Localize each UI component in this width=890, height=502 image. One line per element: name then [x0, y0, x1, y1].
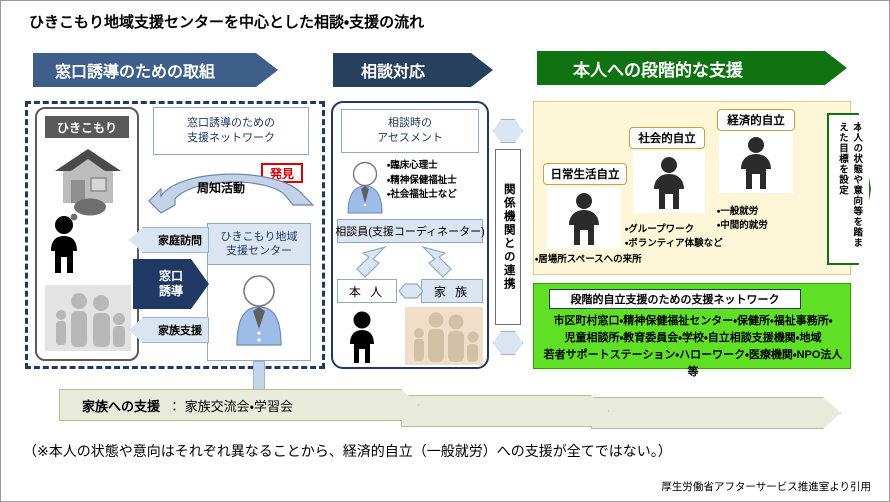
green-body-line-1: 児童相談所・教育委員会・学校・自立相談支援機関・地域: [539, 330, 847, 347]
staff-qualification-list: ・臨床心理士 ・精神保健福祉士 ・社会福祉士など: [387, 159, 483, 213]
staff-item-1: ・精神保健福祉士: [387, 174, 483, 189]
link-organizations-label: 関係機関との連携: [502, 183, 514, 291]
counselor-box: 相談員(支援コーディネーター): [337, 219, 483, 243]
green-body-line-0: 市区町村窓口・精神保健福祉センター・保健所・福祉事務所・: [539, 313, 847, 330]
green-network-body: 市区町村窓口・精神保健福祉センター・保健所・福祉事務所・ 児童相談所・教育委員会…: [539, 313, 847, 367]
bottom-band-1: 家族への支援 ： 家族交流会・学習会: [59, 389, 419, 421]
stage-notes-daily-life: ・居場所スペースへの来所: [535, 253, 665, 267]
center-line-1: ひきこもり地域: [221, 230, 298, 244]
kazoku-box: 家 族: [421, 279, 483, 303]
family-photo-icon: [45, 285, 131, 351]
family-support-band-label: 家族への支援: [82, 396, 160, 415]
counselor-person-icon: [345, 159, 385, 215]
diagram-root: ひきこもり地域支援センターを中心とした相談・支援の流れ 窓口誘導のための取組 相…: [0, 0, 890, 502]
person-black-icon: [47, 215, 81, 275]
stage-2-note-0: ・一般就労: [717, 205, 807, 219]
banner-1-label: 窓口誘導のための取組: [55, 58, 215, 82]
stage-photo-economic: [719, 131, 793, 193]
family-photo-icon: [405, 307, 483, 365]
awareness-label: 周知活動: [181, 179, 261, 197]
stage-1-note-1: ・ボランティア体験など: [625, 237, 745, 251]
source-credit: 厚生労働省アフターサービス推進室より引用: [601, 479, 871, 495]
banner-2-label: 相談対応: [361, 58, 425, 82]
page-title: ひきこもり地域支援センターを中心とした相談・支援の流れ: [29, 11, 729, 35]
bottom-band-2: [401, 395, 609, 427]
stage-photo-social: [633, 151, 705, 213]
link-arrow-top-icon: [493, 119, 523, 143]
family-support-band-detail: ： 家族交流会・学習会: [168, 396, 293, 415]
assessment-line-1: 相談時の: [388, 116, 432, 131]
footnote-text: （※本人の状態や意向はそれぞれ異なることから、経済的自立（一般就労）への支援が全…: [23, 441, 863, 463]
link-arrow-bottom-icon: [493, 331, 523, 355]
network-line-1: 窓口誘導のための: [187, 116, 275, 131]
banner-stepwise-support: 本人への段階的な支援: [537, 51, 847, 85]
family-support-arrow: 家族支援: [129, 317, 209, 343]
window-guidance-line-1: 窓口: [159, 269, 183, 284]
staff-person-icon: [233, 271, 285, 349]
banner-consultation: 相談対応: [333, 53, 493, 87]
link-organizations-box: 関係機関との連携: [495, 149, 521, 325]
network-line-2: 支援ネットワーク: [187, 131, 275, 146]
person-black-icon: [345, 311, 379, 365]
counselor-branch-arrows-icon: [353, 245, 473, 279]
banner-window-guidance: 窓口誘導のための取組: [33, 53, 278, 87]
honnin-kazoku-double-arrow-icon: [399, 282, 423, 300]
green-body-line-2: 若者サポートステーション・ハローワーク・医療機関・NPO法人等: [539, 347, 847, 381]
stage-label-daily-life: 日常生活自立: [543, 163, 627, 185]
bottom-band-3: [591, 397, 841, 429]
center-line-2: 支援センター: [226, 244, 292, 258]
center-stem-connector: [253, 361, 265, 393]
stage-0-note-0: ・居場所スペースへの来所: [535, 253, 665, 267]
stage-2-note-1: ・中間的就労: [717, 219, 807, 233]
support-network-box: 窓口誘導のための 支援ネットワーク: [153, 107, 309, 155]
green-network-title: 段階的自立支援のための支援ネットワーク: [549, 289, 801, 309]
goal-setting-label: 本人の状態や意向等を踏まえた目標を設定: [835, 122, 864, 256]
family-support-label: 家族支援: [158, 322, 202, 338]
staff-item-2: ・社会福祉士など: [387, 188, 483, 203]
honnin-box: 本 人: [337, 279, 397, 303]
goal-setting-arrow: 本人の状態や意向等を踏まえた目標を設定: [827, 113, 871, 265]
staff-item-0: ・臨床心理士: [387, 159, 483, 174]
home-visit-label: 家庭訪問: [158, 232, 202, 248]
home-visit-arrow: 家庭訪問: [129, 227, 209, 253]
stage-notes-economic: ・一般就労 ・中間的就労: [717, 205, 807, 234]
support-center-title: ひきこもり地域 支援センター: [207, 223, 311, 265]
assessment-box: 相談時の アセスメント: [341, 109, 479, 153]
banner-3-label: 本人への段階的な支援: [573, 56, 743, 81]
stage-label-social: 社会的自立: [629, 127, 705, 149]
hikikomori-label: ひきこもり: [45, 116, 129, 138]
stage-label-economic: 経済的自立: [717, 109, 795, 131]
window-guidance-line-2: 誘導: [159, 284, 183, 299]
assessment-line-2: アセスメント: [377, 131, 443, 146]
stage-photo-daily-life: [547, 187, 621, 249]
